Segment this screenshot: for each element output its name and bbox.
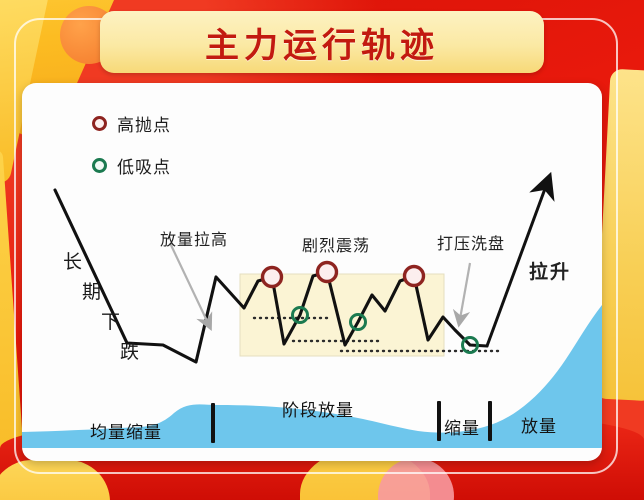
legend-item-high-sell: 高抛点 [92,108,171,138]
volume-divider-3 [488,401,492,441]
high-sell-marker [263,268,282,287]
volume-divider-1 [211,403,215,443]
legend-label-high-sell: 高抛点 [117,111,171,136]
annotation-rally: 拉升 [529,257,571,284]
decline-char-4: 跌 [120,337,139,364]
legend-label-low-buy: 低吸点 [117,153,171,178]
high-sell-marker [405,267,424,286]
legend: 高抛点 低吸点 [92,108,171,192]
volume-label-expand: 放量 [521,412,557,437]
volume-divider-2 [437,401,441,441]
annotation-shakeout: 打压洗盘 [437,230,505,254]
low-buy-ring-icon [92,158,107,173]
annotation-violent-swing: 剧烈震荡 [302,232,370,256]
high-sell-ring-icon [92,116,107,131]
page-title: 主力运行轨迹 [205,18,439,67]
decline-char-1: 长 [63,247,82,274]
legend-item-low-buy: 低吸点 [92,150,171,180]
volume-label-flat-shrink: 均量缩量 [90,418,162,443]
volume-label-shrink: 缩量 [444,414,480,439]
title-banner: 主力运行轨迹 [100,11,544,73]
shakeout-arrow [460,263,470,319]
decline-char-2: 期 [82,277,101,304]
poster-stage: 主力运行轨迹 [0,0,644,500]
decline-char-3: 下 [101,307,120,334]
volume-label-stage-expand: 阶段放量 [282,396,354,421]
volume-pullup-arrow [170,243,208,323]
annotation-volume-pullup: 放量拉高 [160,226,228,250]
high-sell-marker [318,263,337,282]
